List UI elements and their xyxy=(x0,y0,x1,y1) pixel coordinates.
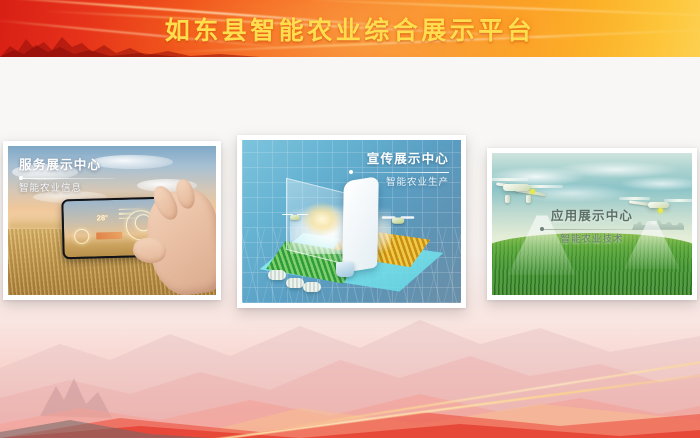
divider-dot xyxy=(540,227,544,231)
service-center-caption: 服务展示中心 智能农业信息 xyxy=(19,158,115,195)
promotion-center-caption: 宣传展示中心 智能农业生产 xyxy=(349,152,449,189)
caption-divider xyxy=(19,178,115,179)
service-center-subtitle: 智能农业信息 xyxy=(19,183,115,195)
divider-dot xyxy=(19,176,23,180)
service-center-title: 服务展示中心 xyxy=(19,158,115,174)
panel-application-center[interactable]: 应用展示中心 智能农业技术 xyxy=(487,148,697,300)
page-root: 如东县智能农业综合展示平台 xyxy=(0,0,700,438)
application-center-subtitle: 智能农业技术 xyxy=(540,234,644,246)
panel-service-center[interactable]: 28° 服务展示中心 智能农业信息 xyxy=(3,141,221,300)
application-center-title: 应用展示中心 xyxy=(540,209,644,225)
hud-temperature-readout: 28° xyxy=(97,213,109,222)
divider-dot xyxy=(349,170,353,174)
page-title: 如东县智能农业综合展示平台 xyxy=(0,0,700,57)
promotion-center-title: 宣传展示中心 xyxy=(349,152,449,168)
drone-icon-right xyxy=(384,214,412,227)
header-banner: 如东县智能农业综合展示平台 xyxy=(0,0,700,57)
caption-divider xyxy=(540,229,644,230)
panel-promotion-center[interactable]: 宣传展示中心 智能农业生产 xyxy=(237,135,466,308)
promotion-center-subtitle: 智能农业生产 xyxy=(349,177,449,189)
drone-icon-left xyxy=(284,212,306,222)
application-center-caption: 应用展示中心 智能农业技术 xyxy=(540,209,644,246)
caption-divider xyxy=(349,172,449,173)
